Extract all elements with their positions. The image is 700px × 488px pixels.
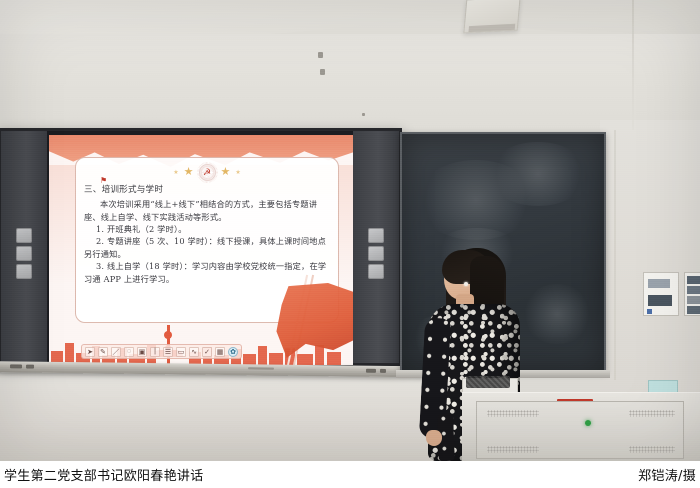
caption-text-right: 郑铠涛/摄 [638, 465, 696, 484]
earring [464, 282, 468, 286]
highlighter-icon[interactable]: ／ [111, 347, 121, 357]
wall-seam [632, 0, 634, 130]
pen-icon[interactable]: ✎ [98, 347, 108, 357]
board-button-power-icon[interactable] [16, 228, 32, 243]
board-button-source-icon[interactable] [16, 246, 32, 261]
hammer-sickle-glyph: ☭ [203, 167, 211, 178]
wall-sensor-lower [320, 69, 325, 75]
board-button-volume-up-icon[interactable] [368, 228, 384, 243]
caption-text-left: 学生第二党支部书记欧阳春艳讲话 [4, 465, 204, 484]
board-buttons-right[interactable] [368, 228, 384, 279]
slide-item-2: 2. 专题讲座（5 次、10 学时）：线下授课，具体上课时间地点另行通知。 [84, 235, 332, 260]
wall-sensor-upper [318, 52, 323, 58]
shape-icon[interactable]: ▭ [176, 347, 186, 357]
wall-screw [362, 113, 365, 116]
presentation-slide[interactable]: ★ ★ ☭ ★ ★ ⚑ 三、培训形式与学时 本次培训采用“线上+线下”相结合的方… [49, 135, 353, 365]
separator-icon: | [150, 347, 160, 357]
wall-notice-left [643, 272, 679, 316]
check-icon[interactable]: ✓ [202, 347, 212, 357]
slide-body-text: 三、培训形式与学时 本次培训采用“线上+线下”相结合的方式，主要包括专题讲座、线… [84, 184, 332, 285]
grid-icon[interactable]: ▦ [215, 347, 225, 357]
board-button-volume-down-icon[interactable] [368, 246, 384, 261]
podium-door[interactable] [476, 401, 684, 459]
slide-item-1: 1. 开班典礼（2 学时）。 [84, 223, 332, 235]
logo-icon[interactable]: ✿ [228, 347, 238, 357]
wall-seam-lower [614, 130, 616, 380]
lectern-cabinet[interactable] [462, 392, 700, 461]
desk-items [466, 376, 510, 388]
star-icon-b: ★ [184, 167, 194, 178]
screenshot-icon[interactable]: ▣ [137, 347, 147, 357]
wall-notice-right [684, 272, 700, 316]
power-led-indicator [585, 420, 591, 426]
smart-board[interactable]: ★ ★ ☭ ★ ★ ⚑ 三、培训形式与学时 本次培训采用“线上+线下”相结合的方… [0, 128, 402, 366]
curve-icon[interactable]: ∿ [189, 347, 199, 357]
slide-paragraph: 本次培训采用“线上+线下”相结合的方式，主要包括专题讲座、线上自学、线下实践活动… [84, 198, 332, 223]
slide-item-3: 3. 线上自学（18 学时）：学习内容由学校党校统一指定，在学习通 APP 上进… [84, 260, 332, 285]
ceiling-vent [463, 0, 520, 33]
board-button-menu-icon[interactable] [16, 264, 32, 279]
hand [426, 430, 442, 446]
lower-wall [0, 372, 470, 461]
board-buttons-left[interactable] [16, 228, 32, 279]
list-icon[interactable]: ☰ [163, 347, 173, 357]
board-button-home-icon[interactable] [368, 264, 384, 279]
eraser-icon[interactable]: ◌ [124, 347, 134, 357]
board-bezel-right [353, 131, 399, 363]
photo-caption-bar: 学生第二党支部书记欧阳春艳讲话 郑铠涛/摄 [0, 461, 700, 488]
board-bezel-left [1, 131, 47, 363]
communist-party-emblem-icon: ☭ [199, 164, 216, 181]
presentation-ink-toolbar[interactable]: ➤ ✎ ／ ◌ ▣ | ☰ ▭ ∿ ✓ ▦ ✿ [81, 344, 242, 359]
star-icon-d: ★ [235, 170, 240, 176]
classroom-photo: ★ ★ ☭ ★ ★ ⚑ 三、培训形式与学时 本次培训采用“线上+线下”相结合的方… [0, 0, 700, 461]
star-icon-c: ★ [221, 167, 231, 178]
slide-emblem-row: ★ ★ ☭ ★ ★ [76, 164, 338, 181]
slide-heading: 三、培训形式与学时 [84, 184, 332, 197]
pointer-icon[interactable]: ➤ [85, 347, 95, 357]
star-icon-a: ★ [173, 170, 178, 176]
